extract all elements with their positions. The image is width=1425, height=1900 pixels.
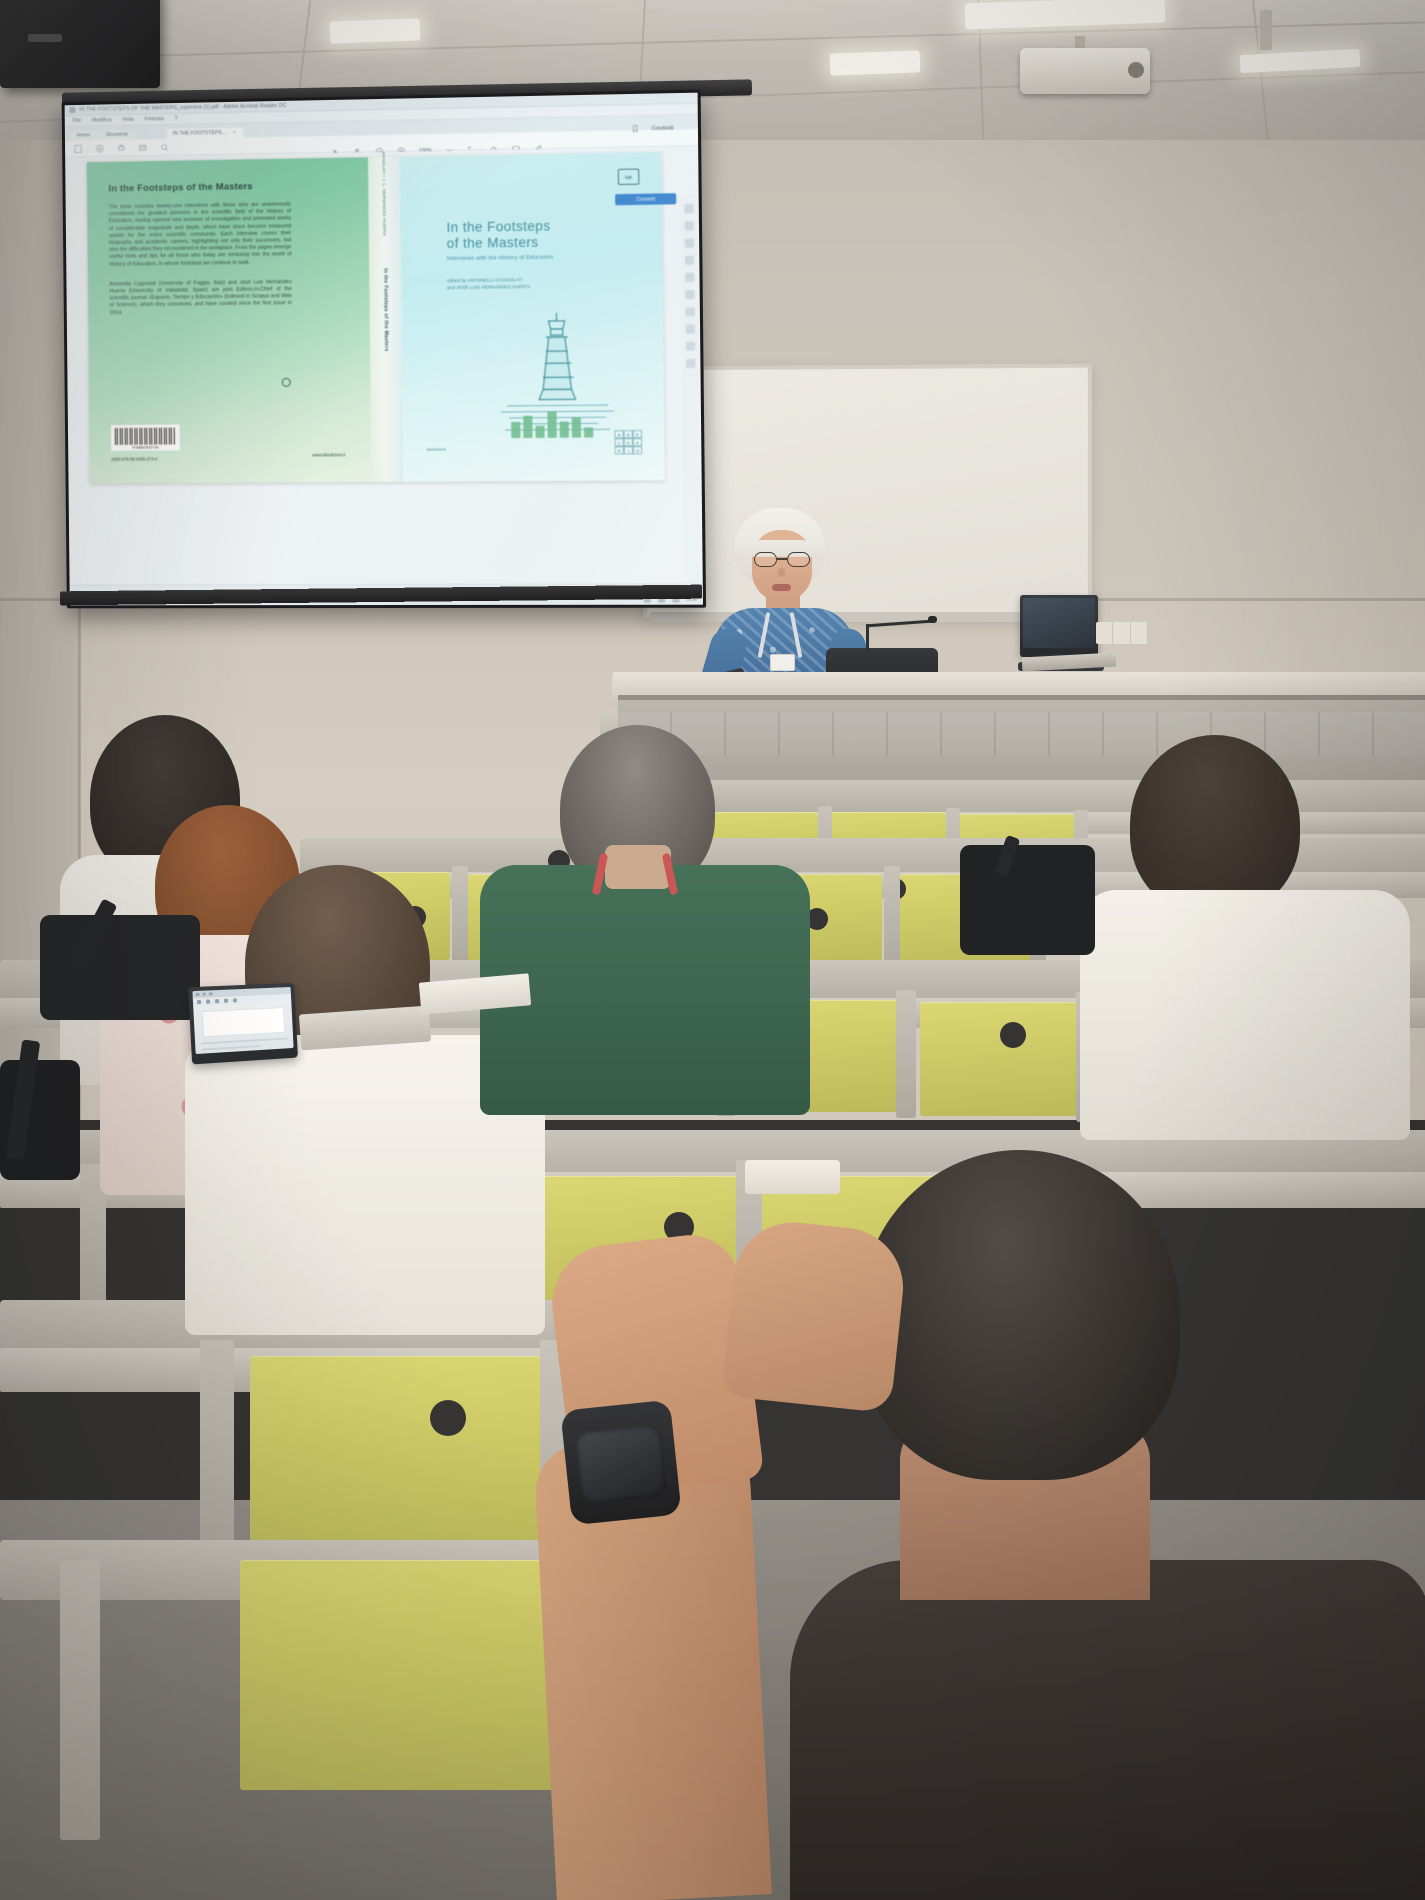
convert-button[interactable]: Converti — [615, 193, 676, 205]
wall-mounted-display — [0, 0, 160, 88]
imprint-cell: A — [614, 430, 623, 438]
seat-divider — [200, 1340, 234, 1570]
share-label[interactable]: Condividi — [652, 125, 674, 131]
acrobat-app-icon — [70, 107, 76, 113]
isbn-text: ISBN 978-88-9295-273-4 — [111, 456, 157, 461]
imprint-cell: A — [633, 438, 642, 446]
acrobat-share-row[interactable]: Condividi — [630, 123, 673, 133]
acrobat-tools-rail[interactable] — [680, 195, 700, 583]
imprint-cell: E — [633, 430, 642, 438]
tab-home[interactable]: Home — [71, 130, 98, 140]
email-icon[interactable] — [138, 143, 147, 152]
back-cover-heading: In the Footsteps of the Masters — [108, 179, 350, 194]
audience-head — [1130, 735, 1300, 915]
menu-item-file[interactable]: File — [73, 118, 82, 124]
publisher-logo: lab — [618, 169, 640, 186]
seat-hole-icon — [430, 1400, 466, 1436]
menu-item-help[interactable]: ? — [175, 116, 178, 122]
spine-authors: A. CAGNOLATI / J. L. HERNÁNDEZ HUERTA — [381, 146, 387, 236]
pdf-page-book-cover-spread: In the Footsteps of the Masters The book… — [87, 152, 665, 484]
back-cover-blurb: The book contains twenty-one interviews … — [109, 201, 292, 268]
menu-item-modifica[interactable]: Modifica — [92, 117, 112, 123]
save-icon[interactable] — [95, 144, 104, 153]
window-title: IN THE FOOTSTEPS OF THE MASTERS_copertin… — [79, 103, 286, 113]
front-cover-subtitle: Interviews with the History of Education — [447, 255, 553, 263]
export-pdf-icon[interactable] — [684, 204, 693, 213]
seat[interactable] — [920, 1002, 1080, 1116]
display-brand-badge — [28, 34, 62, 42]
raised-hand-right — [721, 1217, 909, 1414]
audience-neck — [605, 845, 671, 889]
seat-divider — [452, 866, 468, 966]
imprint-cell: C — [615, 438, 624, 446]
book-back-cover: In the Footsteps of the Masters The book… — [87, 157, 372, 483]
back-cover-editors-note: Antonella Cagnolati (University of Foggi… — [109, 279, 292, 317]
bench-row-4 — [690, 780, 1425, 816]
fill-sign-icon[interactable] — [685, 342, 694, 351]
laptop-text-line — [201, 1037, 287, 1044]
laptop-document — [202, 1007, 286, 1037]
front-cover-title-line-1: In the Footsteps — [446, 218, 550, 236]
barcode-number: 9788892952734 — [115, 445, 176, 449]
imprint-cell: D — [624, 438, 633, 446]
seat-divider — [896, 990, 916, 1118]
edit-pdf-icon[interactable] — [684, 238, 693, 247]
ceiling-light-panel — [830, 50, 921, 75]
imprint-cell: I — [624, 446, 633, 454]
close-icon[interactable]: × — [233, 130, 236, 136]
wall-fixture — [1260, 10, 1272, 50]
combine-files-icon[interactable] — [685, 273, 694, 282]
foreground-person-shoulders — [790, 1560, 1425, 1900]
barcode-lines-icon — [115, 428, 176, 445]
smartwatch-face — [574, 1424, 667, 1505]
lecture-hall-photo: IN THE FOOTSTEPS OF THE MASTERS_copertin… — [0, 0, 1425, 1900]
monitor-screen — [1023, 598, 1095, 648]
publisher-website: www.labedizioni.it — [312, 452, 345, 457]
seat-divider — [884, 866, 900, 972]
projector-lens-icon — [1128, 62, 1144, 78]
create-pdf-icon[interactable] — [684, 221, 693, 230]
front-cover-editors-second: and JOSÉ LUIS HERNÁNDEZ HUERTA — [447, 284, 530, 292]
laptop-text-line — [201, 1045, 260, 1051]
paper-sheet — [745, 1160, 840, 1194]
protect-icon[interactable] — [685, 324, 694, 333]
laptop-screen — [192, 987, 293, 1054]
front-cover-title: In the Footsteps of the Masters — [446, 218, 550, 252]
handbag — [40, 915, 200, 1020]
imprint-cell: O — [633, 446, 642, 454]
front-cover-publisher: labedizioni — [427, 447, 446, 452]
microphone-icon — [928, 616, 937, 623]
audience-laptop[interactable] — [188, 983, 298, 1065]
acrobat-document-area[interactable]: In the Footsteps of the Masters The book… — [65, 146, 703, 605]
isbn-barcode: 9788892952734 — [111, 425, 180, 451]
menu-item-vista[interactable]: Vista — [122, 117, 134, 123]
book-spine: A. CAGNOLATI / J. L. HERNÁNDEZ HUERTA In… — [368, 157, 403, 482]
search-icon[interactable] — [160, 142, 169, 151]
ceiling-light-panel — [330, 18, 421, 43]
speaker-mouth — [772, 584, 791, 591]
page-thumbnail-icon[interactable] — [74, 144, 83, 153]
menu-item-finestra[interactable]: Finestra — [145, 116, 164, 122]
backpack — [960, 845, 1095, 955]
spine-title: In the Footsteps of the Masters — [382, 268, 389, 351]
acrobat-window[interactable]: IN THE FOOTSTEPS OF THE MASTERS_copertin… — [65, 93, 703, 606]
imprint-cell: B — [624, 430, 633, 438]
tab-strumenti[interactable]: Strumenti — [100, 130, 136, 141]
front-cover-title-line-2: of the Masters — [447, 234, 551, 252]
lighthouse-icon — [495, 292, 618, 444]
organize-pages-icon[interactable] — [685, 290, 694, 299]
print-icon[interactable] — [117, 143, 126, 152]
front-cover-editors: edited by ANTONELLA CAGNOLATI and JOSÉ L… — [447, 277, 530, 291]
microphone-stand — [866, 624, 869, 652]
more-tools-icon[interactable] — [686, 359, 695, 368]
seat-hole-icon — [1000, 1022, 1026, 1048]
speaker-nose — [778, 568, 785, 577]
tab-document-label: IN THE FOOTSTEPS... — [173, 130, 226, 137]
seat[interactable] — [250, 1356, 540, 1556]
comment-icon[interactable] — [684, 256, 693, 265]
imprint-grid: A B E C D A R I O — [614, 430, 642, 454]
wall-power-sockets — [1096, 622, 1148, 644]
seat-divider — [60, 1560, 100, 1840]
seat[interactable] — [240, 1560, 560, 1790]
audience-torso — [1080, 890, 1410, 1140]
bookmark-icon[interactable] — [630, 124, 639, 133]
glasses-icon — [754, 552, 810, 567]
foreground-person-head — [860, 1150, 1180, 1480]
projection-screen[interactable]: IN THE FOOTSTEPS OF THE MASTERS_copertin… — [62, 90, 706, 609]
desk-monitor — [1020, 595, 1098, 657]
conference-badge — [770, 654, 795, 671]
projected-image: IN THE FOOTSTEPS OF THE MASTERS_copertin… — [65, 93, 703, 606]
decorative-circle-icon — [282, 378, 291, 387]
redact-icon[interactable] — [685, 307, 694, 316]
imprint-cell: R — [615, 446, 624, 454]
